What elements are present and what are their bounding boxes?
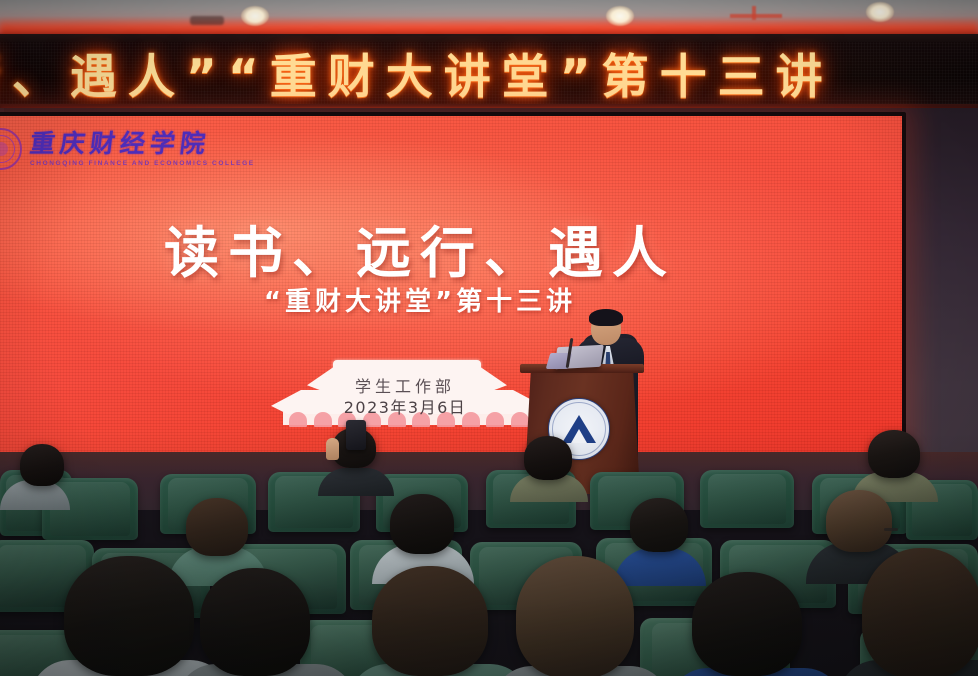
- person-head: [372, 566, 488, 676]
- presenter-hair: [589, 309, 623, 326]
- university-logo-text: 重庆财经学院 CHONGQING FINANCE AND ECONOMICS C…: [30, 131, 255, 166]
- person-head: [692, 572, 802, 676]
- auditorium-ceiling: [0, 0, 978, 38]
- person-head: [200, 568, 310, 676]
- lecture-subtitle: “重财大讲堂”第十三讲: [0, 281, 840, 318]
- lecture-title: 读书、远行、遇人: [0, 208, 840, 288]
- seated-audience: [0, 420, 978, 676]
- person-head: [20, 444, 64, 486]
- event-date-label: 2023年3月6日: [255, 394, 555, 418]
- eyeglasses-arm: [884, 528, 898, 531]
- person-head: [516, 556, 634, 676]
- university-name-en: CHONGQING FINANCE AND ECONOMICS COLLEGE: [30, 160, 255, 167]
- person-head: [826, 490, 892, 552]
- ceiling-rail-post: [752, 6, 756, 20]
- person-head: [630, 498, 688, 552]
- person-head: [862, 548, 978, 676]
- auditorium-scene: 行、遇人”“重财大讲堂”第十三讲 重庆财经学院 CHONGQING FINANC…: [0, 0, 978, 676]
- person-shoulders: [318, 468, 394, 496]
- smartphone[interactable]: [346, 420, 366, 450]
- ceiling-rail-bracket: [730, 14, 782, 18]
- person-head: [186, 498, 248, 556]
- university-logo: 重庆财经学院 CHONGQING FINANCE AND ECONOMICS C…: [0, 128, 255, 170]
- person-head: [390, 494, 454, 554]
- led-banner-text: 行、遇人”“重财大讲堂”第十三讲: [0, 38, 978, 106]
- ceiling-vent: [190, 16, 224, 25]
- ceiling-downlight-1: [241, 6, 269, 26]
- raised-hand: [326, 438, 339, 460]
- person-head: [868, 430, 920, 478]
- ceiling-downlight-3: [866, 2, 894, 22]
- ceiling-downlight-2: [606, 6, 634, 26]
- university-name-cn: 重庆财经学院: [28, 131, 256, 157]
- person-head: [64, 556, 194, 676]
- audience-seat: [700, 470, 794, 528]
- university-seal-icon: [0, 128, 22, 170]
- person-head: [524, 436, 572, 480]
